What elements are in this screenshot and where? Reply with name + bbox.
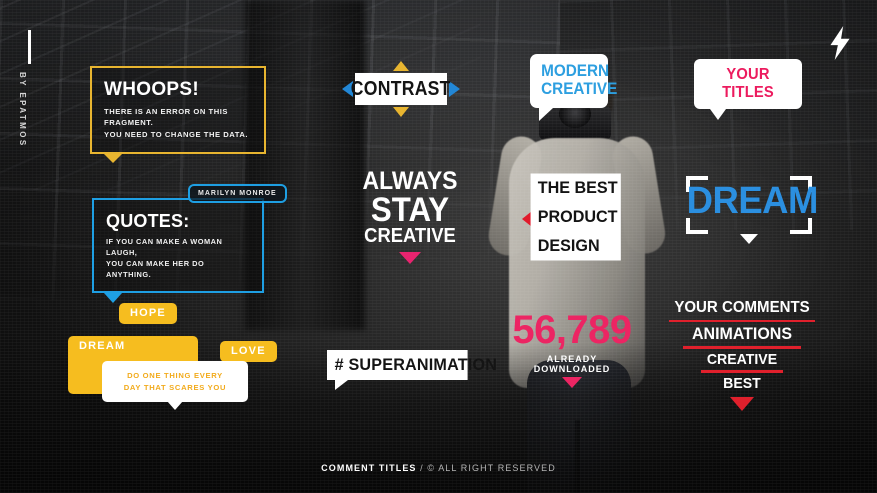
modern-creative-box: MODERN CREATIVE [530, 54, 608, 108]
tag-hope[interactable]: HOPE [119, 303, 177, 324]
byline-bar [28, 30, 31, 64]
modern-creative-callout[interactable]: MODERN CREATIVE [530, 54, 608, 121]
yc-line-2: ANIMATIONS [667, 325, 817, 343]
tag-love[interactable]: LOVE [220, 341, 277, 362]
tags-card: DO ONE THING EVERY DAY THAT SCARES YOU [102, 361, 248, 402]
modern-creative-pointer [539, 108, 553, 121]
quotes-title: QUOTES: [106, 212, 250, 230]
contrast-label: CONTRAST [351, 78, 451, 101]
whoops-pointer [104, 154, 122, 163]
dream-bracket-callout[interactable]: DREAM [684, 176, 814, 234]
byline: BY EPATMOS [18, 30, 40, 148]
dream-label: DREAM [687, 182, 812, 220]
yc-line-1: YOUR COMMENTS [667, 300, 817, 317]
whoops-title: WHOOPS! [104, 80, 250, 99]
yc-separator-3 [701, 370, 783, 373]
tbp-row-1: THE BEST [532, 175, 619, 201]
quotes-attribution-tag: MARILYN MONROE [188, 184, 287, 203]
yc-line-4: BEST [667, 376, 817, 392]
footer-brand: COMMENT TITLES [321, 463, 416, 473]
screenshot-stage: BY EPATMOS WHOOPS! THERE IS AN ERROR ON … [0, 0, 877, 493]
whoops-callout[interactable]: WHOOPS! THERE IS AN ERROR ON THIS FRAGME… [90, 66, 266, 163]
yc-pointer [730, 397, 754, 411]
tags-card-line-2: DAY THAT SCARES YOU [110, 382, 240, 394]
contrast-plate: CONTRAST [355, 73, 447, 105]
quotes-pointer [104, 293, 122, 303]
footer: COMMENT TITLES / © ALL RIGHT RESERVED [0, 463, 877, 473]
tbp-row-3: DESIGN [532, 233, 619, 259]
downloads-caption: ALREADY DOWNLOADED [508, 354, 636, 374]
modern-creative-line-2: CREATIVE [541, 80, 597, 98]
quotes-callout[interactable]: MARILYN MONROE QUOTES: IF YOU CAN MAKE A… [92, 198, 264, 303]
the-best-product-design-callout[interactable]: THE BEST PRODUCT DESIGN [532, 175, 624, 259]
quotes-line-1: IF YOU CAN MAKE A WOMAN LAUGH, [106, 236, 250, 258]
whoops-line-1: THERE IS AN ERROR ON THIS FRAGMENT. [104, 106, 250, 129]
always-stay-creative-callout[interactable]: ALWAYS STAY CREATIVE [355, 170, 465, 264]
contrast-callout[interactable]: CONTRAST [342, 60, 460, 118]
your-titles-callout[interactable]: YOUR TITLES [694, 59, 802, 120]
whoops-line-2: YOU NEED TO CHANGE THE DATA. [104, 129, 250, 140]
your-titles-pointer [710, 109, 726, 120]
tags-card-pointer [167, 401, 183, 410]
byline-text: BY EPATMOS [18, 72, 27, 148]
contrast-arrow-up-icon [393, 61, 409, 71]
superanimation-pointer [335, 380, 348, 390]
lightning-bolt-icon [827, 26, 853, 60]
whoops-box: WHOOPS! THERE IS AN ERROR ON THIS FRAGME… [90, 66, 266, 154]
yc-separator-2 [683, 346, 801, 349]
asc-line-3: CREATIVE [359, 226, 460, 247]
quotes-box: QUOTES: IF YOU CAN MAKE A WOMAN LAUGH, Y… [92, 198, 264, 293]
downloads-pointer [562, 377, 582, 388]
quotes-line-2: YOU CAN MAKE HER DO ANYTHING. [106, 258, 250, 280]
downloads-counter[interactable]: 56,789 ALREADY DOWNLOADED [508, 310, 636, 388]
downloads-number: 56,789 [508, 310, 636, 350]
tbp-row-2: PRODUCT [532, 204, 619, 230]
superanimation-callout[interactable]: # SUPERANIMATION [327, 350, 475, 390]
footer-rights: / © ALL RIGHT RESERVED [420, 463, 556, 473]
dream-pointer [740, 234, 758, 244]
modern-creative-line-1: MODERN [541, 62, 597, 80]
yc-separator-1 [669, 320, 815, 323]
your-titles-label: YOUR TITLES [708, 66, 789, 102]
your-titles-box: YOUR TITLES [694, 59, 802, 109]
your-comments-callout[interactable]: YOUR COMMENTS ANIMATIONS CREATIVE BEST [662, 300, 822, 411]
tags-card-line-1: DO ONE THING EVERY [110, 370, 240, 382]
tbp-arrow-icon [522, 211, 532, 227]
yc-line-3: CREATIVE [667, 352, 817, 368]
superanimation-label: # SUPERANIMATION [327, 350, 468, 380]
asc-pointer [399, 252, 421, 264]
asc-line-2: STAY [359, 194, 460, 226]
tags-callout[interactable]: HOPE DREAM LOVE DO ONE THING EVERY DAY T… [68, 303, 288, 398]
contrast-arrow-down-icon [393, 107, 409, 117]
